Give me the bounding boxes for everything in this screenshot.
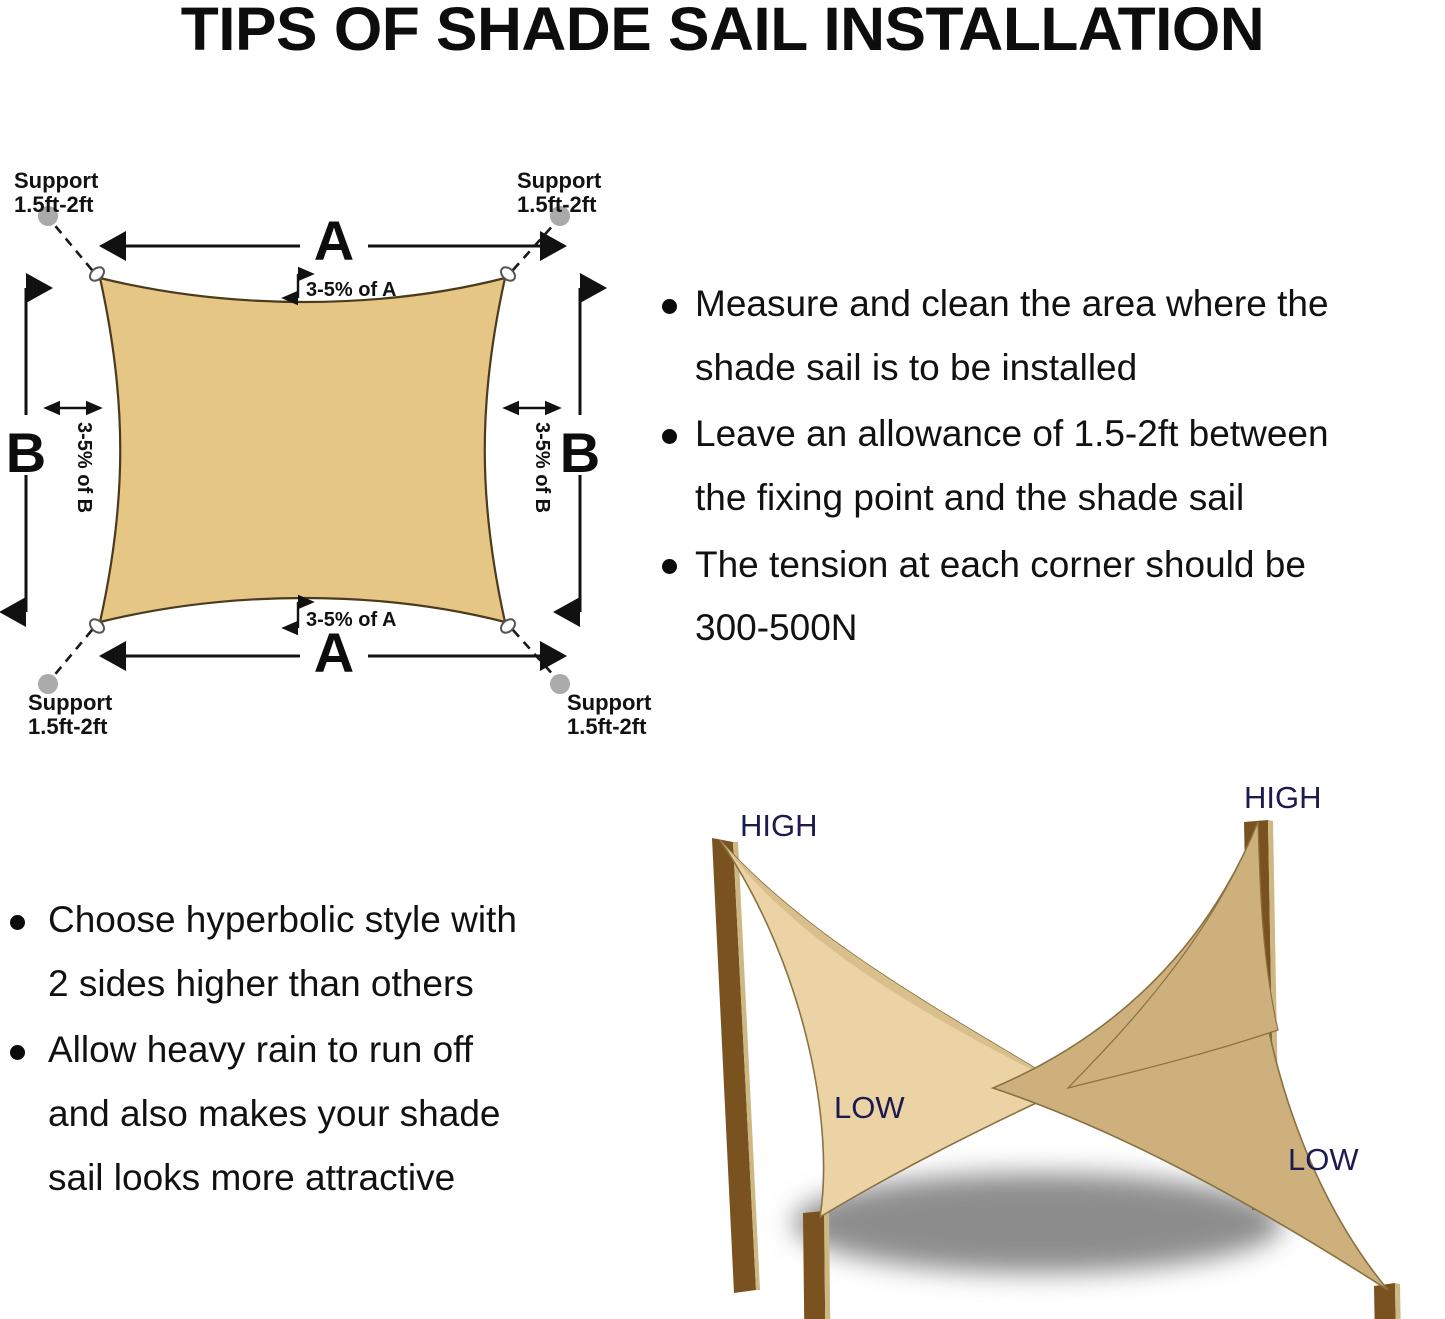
label-b-left: B	[6, 421, 46, 484]
list-item-text: Allow heavy rain to run off and also mak…	[48, 1018, 620, 1209]
label-curve-left: 3-5% of B	[73, 422, 95, 513]
support-label-top-left-line1: Support	[14, 168, 99, 193]
label-low-right: LOW	[1288, 1142, 1359, 1177]
bullet-dot-icon	[662, 429, 677, 444]
label-high-right: HIGH	[1244, 780, 1322, 815]
bullet-dot-icon	[662, 559, 677, 574]
support-label-top-right-line2: 1.5ft-2ft	[517, 192, 597, 217]
post-low-left	[803, 1211, 831, 1319]
list-item: Measure and clean the area where the sha…	[648, 272, 1445, 399]
post-high-left	[712, 838, 760, 1293]
support-label-bottom-right-line1: Support	[567, 690, 652, 715]
label-a-top: A	[314, 209, 354, 272]
support-label-top-right-line1: Support	[517, 168, 602, 193]
label-curve-bottom: 3-5% of A	[306, 609, 396, 631]
post-low-right	[1374, 1283, 1405, 1319]
list-item: Leave an allowance of 1.5-2ft between th…	[648, 402, 1445, 529]
label-high-left: HIGH	[740, 808, 818, 843]
label-curve-top: 3-5% of A	[306, 279, 396, 301]
bullet-dot-icon	[10, 1045, 25, 1060]
bullet-dot-icon	[662, 299, 677, 314]
sail-panel-light	[720, 840, 1068, 1217]
list-item: The tension at each corner should be 300…	[648, 533, 1445, 660]
support-label-bottom-right-line2: 1.5ft-2ft	[567, 714, 647, 739]
page-title: TIPS OF SHADE SAIL INSTALLATION	[0, 0, 1445, 64]
list-item-text: Measure and clean the area where the sha…	[695, 272, 1445, 399]
tips-list-right: Measure and clean the area where the sha…	[648, 272, 1445, 663]
list-item-text: Choose hyperbolic style with 2 sides hig…	[48, 888, 620, 1015]
tips-list-left: Choose hyperbolic style with 2 sides hig…	[0, 888, 620, 1212]
bullet-dot-icon	[10, 915, 25, 930]
label-curve-right: 3-5% of B	[531, 422, 553, 513]
hyperbolic-sail-illustration: HIGH HIGH LOW LOW	[648, 770, 1445, 1319]
label-b-right: B	[560, 421, 600, 484]
list-item-text: Leave an allowance of 1.5-2ft between th…	[695, 402, 1445, 529]
infographic-page: TIPS OF SHADE SAIL INSTALLATION	[0, 0, 1445, 1319]
sail-shape	[100, 278, 505, 622]
label-low-left: LOW	[834, 1090, 905, 1125]
rectangular-sail-diagram: A 3-5% of A A 3-5% of A B	[0, 150, 660, 740]
list-item: Choose hyperbolic style with 2 sides hig…	[0, 888, 620, 1015]
list-item-text: The tension at each corner should be 300…	[695, 533, 1445, 660]
support-label-bottom-left-line2: 1.5ft-2ft	[28, 714, 108, 739]
list-item: Allow heavy rain to run off and also mak…	[0, 1018, 620, 1209]
support-label-bottom-left-line1: Support	[28, 690, 113, 715]
support-label-top-left-line2: 1.5ft-2ft	[14, 192, 94, 217]
